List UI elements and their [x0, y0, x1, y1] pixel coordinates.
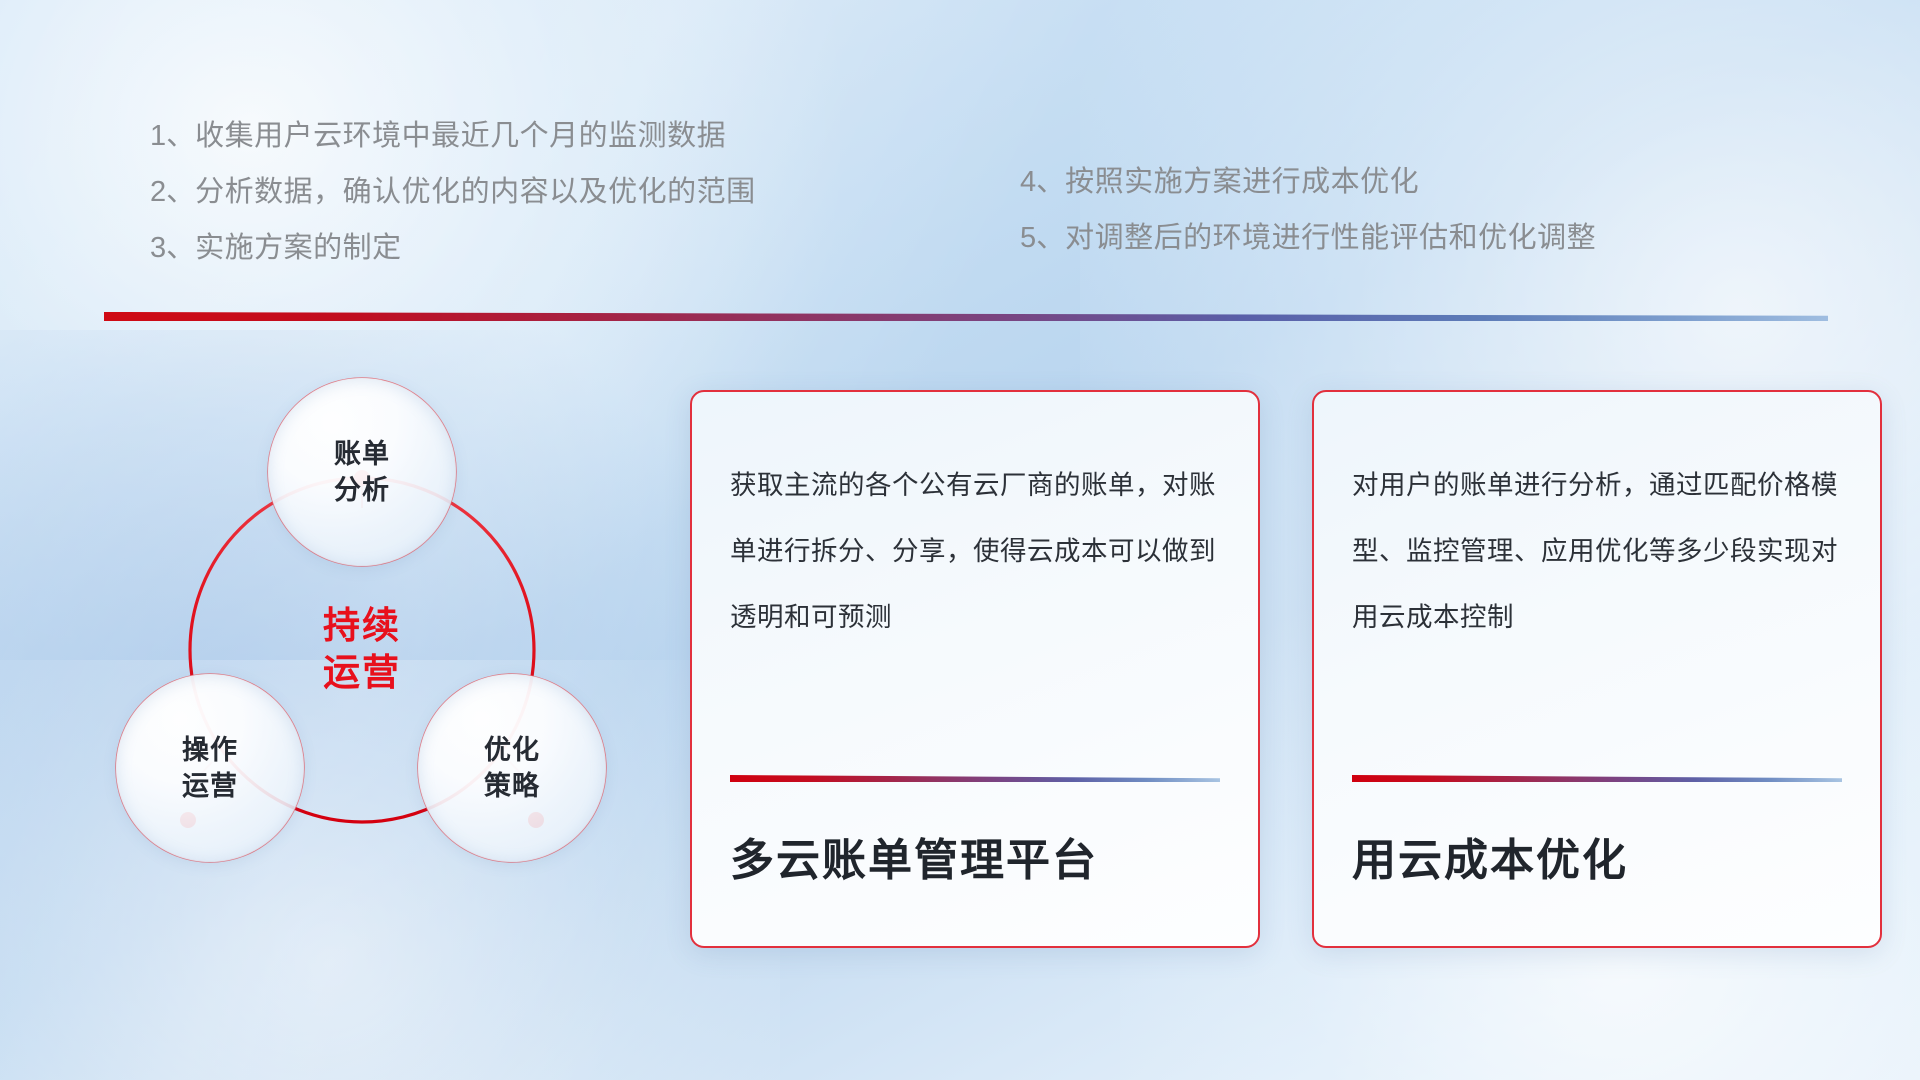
label-line-2: 分析: [334, 472, 390, 508]
card-body-text: 获取主流的各个公有云厂商的账单，对账单进行拆分、分享，使得云成本可以做到透明和可…: [730, 452, 1220, 650]
list-item: 4、按照实施方案进行成本优化: [1020, 154, 1780, 210]
center-label-line-2: 运营: [252, 649, 472, 696]
card-divider: [730, 775, 1220, 782]
process-steps-left-column: 1、收集用户云环境中最近几个月的监测数据 2、分析数据，确认优化的内容以及优化的…: [150, 108, 1020, 276]
list-item-text: 收集用户云环境中最近几个月的监测数据: [195, 120, 726, 152]
process-steps-right-column: 4、按照实施方案进行成本优化 5、对调整后的环境进行性能评估和优化调整: [1020, 108, 1780, 276]
continuous-operations-diagram: 账单 分析 操作 运营 优化 策略 持续 运营: [100, 350, 660, 950]
card-divider-bar: [730, 775, 1220, 782]
list-item-number: 3、: [150, 232, 195, 264]
card-divider: [1352, 775, 1842, 782]
card-multi-cloud-billing[interactable]: 获取主流的各个公有云厂商的账单，对账单进行拆分、分享，使得云成本可以做到透明和可…: [690, 390, 1260, 948]
list-item-number: 1、: [150, 120, 195, 152]
diagram-circle-label: 优化 策略: [484, 732, 540, 804]
label-line-1: 优化: [484, 732, 540, 768]
card-body-text: 对用户的账单进行分析，通过匹配价格模型、监控管理、应用优化等多少段实现对用云成本…: [1352, 452, 1842, 650]
section-divider-bar: [104, 312, 1828, 321]
list-item-text: 分析数据，确认优化的内容以及优化的范围: [195, 176, 756, 208]
list-item-number: 5、: [1020, 222, 1065, 254]
diagram-circle-label: 操作 运营: [182, 732, 238, 804]
list-item: 2、分析数据，确认优化的内容以及优化的范围: [150, 164, 1020, 220]
list-item-number: 4、: [1020, 166, 1065, 198]
card-cloud-cost-optimization[interactable]: 对用户的账单进行分析，通过匹配价格模型、监控管理、应用优化等多少段实现对用云成本…: [1312, 390, 1882, 948]
diagram-circle-bill-analysis[interactable]: 账单 分析: [268, 378, 456, 566]
diagram-circle-optimization-strategy[interactable]: 优化 策略: [418, 674, 606, 862]
center-label-line-1: 持续: [252, 602, 472, 649]
list-item-number: 2、: [150, 176, 195, 208]
list-item-text: 按照实施方案进行成本优化: [1065, 166, 1419, 198]
section-divider: [104, 312, 1828, 321]
diagram-circle-label: 账单 分析: [334, 436, 390, 508]
label-line-1: 操作: [182, 732, 238, 768]
list-item: 1、收集用户云环境中最近几个月的监测数据: [150, 108, 1020, 164]
card-title: 用云成本优化: [1352, 824, 1628, 888]
list-item: 3、实施方案的制定: [150, 220, 1020, 276]
list-item-text: 实施方案的制定: [195, 232, 402, 264]
card-title: 多云账单管理平台: [730, 824, 1098, 888]
diagram-circle-operations[interactable]: 操作 运营: [116, 674, 304, 862]
diagram-center-label: 持续 运营: [252, 602, 472, 697]
process-steps-list: 1、收集用户云环境中最近几个月的监测数据 2、分析数据，确认优化的内容以及优化的…: [150, 108, 1790, 276]
list-item: 5、对调整后的环境进行性能评估和优化调整: [1020, 210, 1780, 266]
list-item-text: 对调整后的环境进行性能评估和优化调整: [1065, 222, 1596, 254]
label-line-2: 运营: [182, 768, 238, 804]
card-divider-bar: [1352, 775, 1842, 782]
label-line-2: 策略: [484, 768, 540, 804]
label-line-1: 账单: [334, 436, 390, 472]
